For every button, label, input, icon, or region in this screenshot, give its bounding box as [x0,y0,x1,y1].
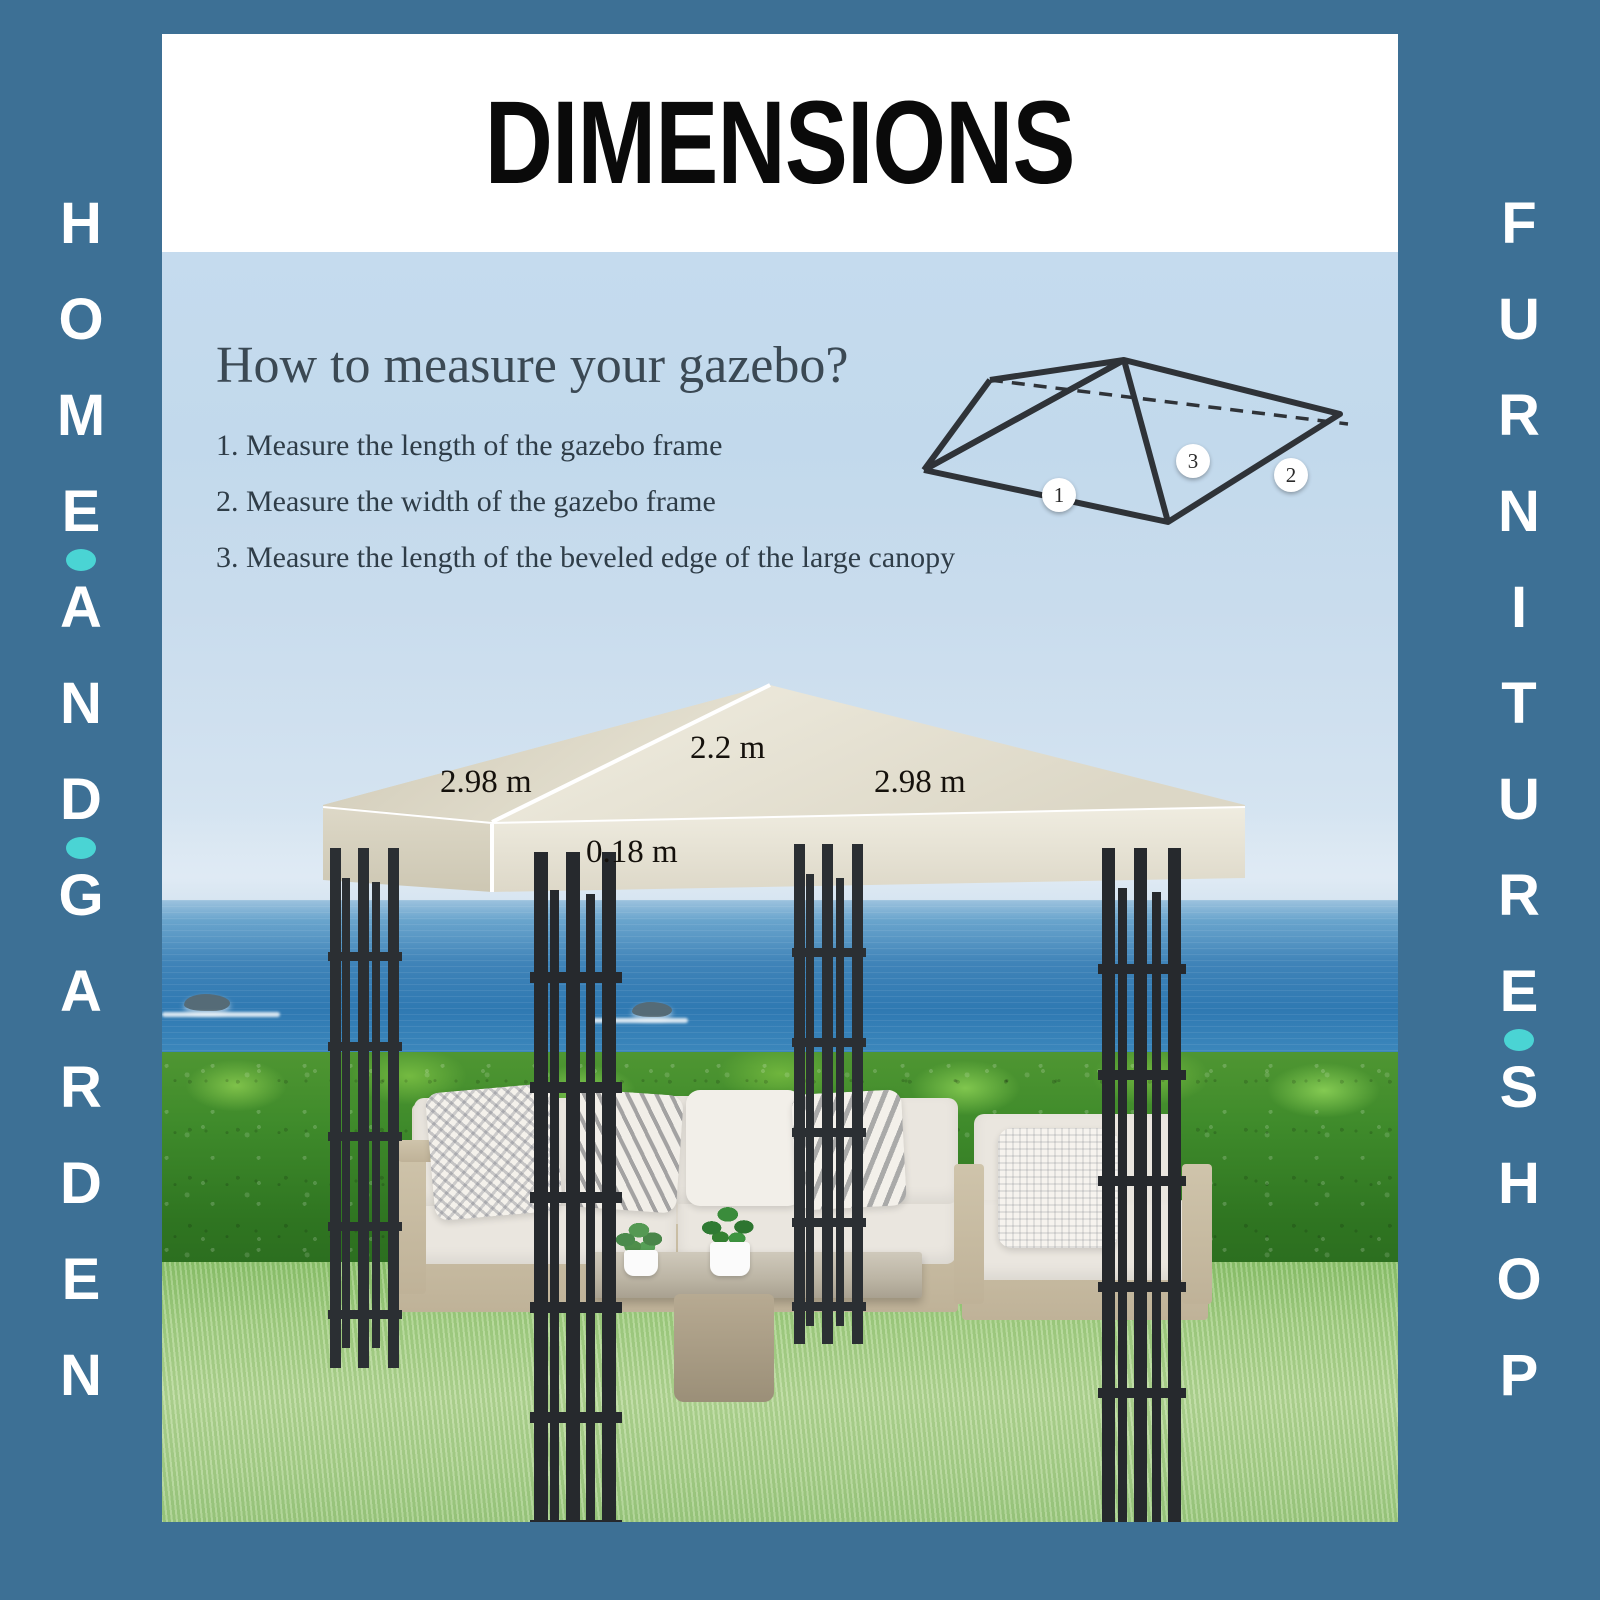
right-banner-letter-4: I [1438,560,1600,656]
left-banner-letter-1: O [0,272,162,368]
right-side-banner: FURNITURESHOP [1438,0,1600,1600]
callout-badge-3: 3 [1176,444,1210,478]
right-banner-letter-13: P [1438,1328,1600,1424]
gazebo-post-front-right [1098,848,1186,1522]
gazebo-post-back-right [792,844,866,1344]
right-banner-letter-5: T [1438,656,1600,752]
right-banner-letter-1: U [1438,272,1600,368]
header-band: DIMENSIONS [162,34,1398,252]
right-banner-letter-8: E [1438,944,1600,1040]
right-banner-letter-11: H [1438,1136,1600,1232]
right-banner-letter-12: O [1438,1232,1600,1328]
product-photo: 2.98 m 2.2 m 2.98 m 0.18 m How to measur… [162,252,1398,1522]
dimension-label-valance: 0.18 m [586,834,678,871]
left-side-banner: HOMEANDGARDEN [0,0,162,1600]
right-banner-letter-10: S [1438,1040,1600,1136]
canopy-wireframe-diagram: 1 3 2 [912,352,1352,542]
wireframe-edge-b [924,380,990,470]
instruction-step: 3. Measure the length of the beveled edg… [216,541,1116,575]
page-title: DIMENSIONS [485,75,1075,211]
infographic-root: HOMEANDGARDEN FURNITURESHOP DIMENSIONS [0,0,1600,1600]
left-banner-letter-14: N [0,1328,162,1424]
right-banner-letter-2: R [1438,368,1600,464]
wireframe-ridge [1124,360,1168,522]
right-banner-letter-6: U [1438,752,1600,848]
callout-badge-2: 2 [1274,458,1308,492]
left-banner-letter-6: N [0,656,162,752]
right-banner-letter-0: F [1438,176,1600,272]
dimension-label-bevel: 2.2 m [690,730,765,767]
left-banner-letter-9: G [0,848,162,944]
dimension-label-right: 2.98 m [874,764,966,801]
left-banner-letter-3: E [0,464,162,560]
left-banner-letter-7: D [0,752,162,848]
left-banner-letter-2: M [0,368,162,464]
right-banner-letter-3: N [1438,464,1600,560]
callout-badge-1: 1 [1042,478,1076,512]
left-banner-letter-5: A [0,560,162,656]
gazebo-post-back-left [328,848,402,1368]
canopy-wireframe-svg [912,352,1352,542]
left-banner-letter-12: D [0,1136,162,1232]
left-banner-letter-11: R [0,1040,162,1136]
gazebo-post-front-left [530,852,622,1522]
left-banner-letter-13: E [0,1232,162,1328]
left-banner-letter-10: A [0,944,162,1040]
dimension-label-left: 2.98 m [440,764,532,801]
right-banner-letter-7: R [1438,848,1600,944]
left-banner-letter-0: H [0,176,162,272]
